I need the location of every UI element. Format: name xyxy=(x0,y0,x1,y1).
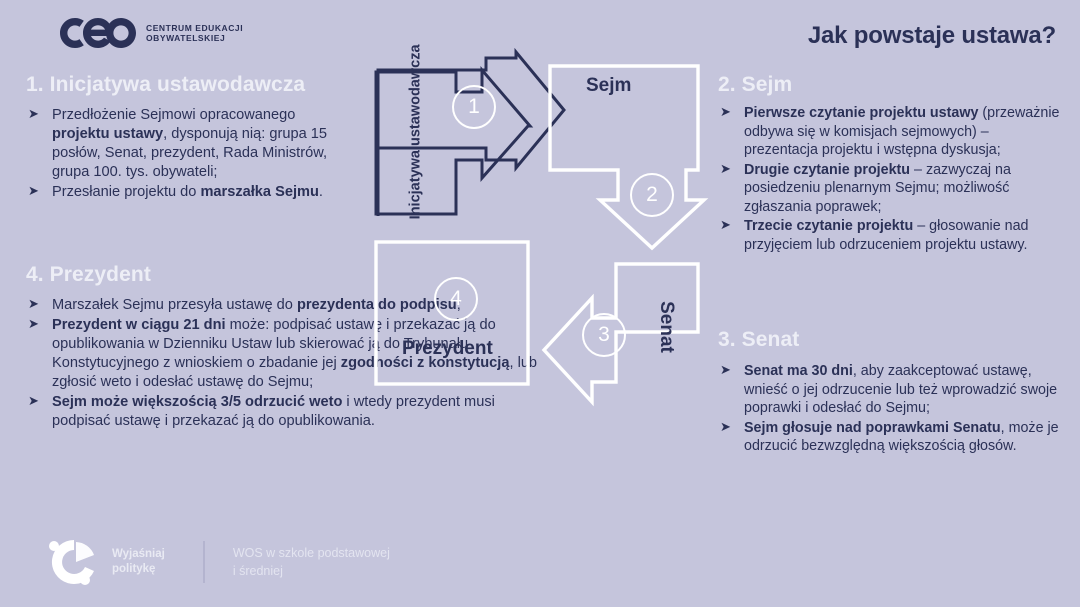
ceo-logo-subtitle-line1: CENTRUM EDUKACJI xyxy=(146,23,243,33)
list-item-text: Przedłożenie Sejmowi opracowanego projek… xyxy=(52,106,356,182)
step-badge-1: 1 xyxy=(452,85,496,129)
legislative-process-diagram: Inicjatywa ustawodawcza Sejm Senat Prezy… xyxy=(368,48,712,408)
diagram-label-sejm: Sejm xyxy=(586,75,631,97)
diagram-label-prezydent: Prezydent xyxy=(402,338,493,360)
bullet-list-sejm: ➤ Pierwsze czytanie projektu ustawy (prz… xyxy=(718,104,1062,256)
list-item: ➤ Przedłożenie Sejmowi opracowanego proj… xyxy=(26,106,356,182)
list-item-text: Senat ma 30 dni, aby zaakceptować ustawę… xyxy=(744,362,1062,418)
ceo-logo: CENTRUM EDUKACJI OBYWATELSKIEJ xyxy=(58,16,243,50)
bullet-arrow-icon: ➤ xyxy=(720,161,731,178)
bullet-arrow-icon: ➤ xyxy=(720,362,731,379)
footer-divider xyxy=(203,541,205,583)
list-item-text: Pierwsze czytanie projektu ustawy (przew… xyxy=(744,104,1062,160)
list-item: ➤ Senat ma 30 dni, aby zaakceptować usta… xyxy=(718,362,1062,418)
footer-claim-line2: politykę xyxy=(112,562,165,577)
bullet-list-senat: ➤ Senat ma 30 dni, aby zaakceptować usta… xyxy=(718,362,1062,457)
arrow-step1-shape xyxy=(378,52,564,216)
bullet-arrow-icon: ➤ xyxy=(28,106,39,123)
step-badge-2: 2 xyxy=(630,173,674,217)
bullet-arrow-icon: ➤ xyxy=(28,296,39,313)
footer-claim-line1: Wyjaśniaj xyxy=(112,547,165,562)
footer-course-line1: WOS w szkole podstawowej xyxy=(233,544,390,562)
bullet-arrow-icon: ➤ xyxy=(28,316,39,333)
list-item-text: Drugie czytanie projektu – zazwyczaj na … xyxy=(744,161,1062,217)
list-item-text: Trzecie czytanie projektu – głosowanie n… xyxy=(744,217,1062,254)
slide-title: Jak powstaje ustawa? xyxy=(808,22,1056,50)
arrow-step1-outline xyxy=(376,70,530,214)
section-heading-senat: 3. Senat xyxy=(718,328,799,352)
list-item-text: Sejm głosuje nad poprawkami Senatu, może… xyxy=(744,419,1062,456)
list-item: ➤ Pierwsze czytanie projektu ustawy (prz… xyxy=(718,104,1062,160)
slide-canvas: CENTRUM EDUKACJI OBYWATELSKIEJ Jak powst… xyxy=(0,0,1080,607)
diagram-label-inicjatywa: Inicjatywa ustawodawcza xyxy=(408,79,425,219)
list-item: ➤ Drugie czytanie projektu – zazwyczaj n… xyxy=(718,161,1062,217)
slide-footer: Wyjaśniaj politykę WOS w szkole podstawo… xyxy=(44,533,390,591)
list-item: ➤ Przesłanie projektu do marszałka Sejmu… xyxy=(26,183,356,202)
bullet-arrow-icon: ➤ xyxy=(28,393,39,410)
ceo-logo-subtitle-line2: OBYWATELSKIEJ xyxy=(146,33,243,43)
diagram-label-senat: Senat xyxy=(655,281,677,373)
footer-claim: Wyjaśniaj politykę xyxy=(112,547,165,576)
list-item: ➤ Trzecie czytanie projektu – głosowanie… xyxy=(718,217,1062,254)
step-badge-3: 3 xyxy=(582,313,626,357)
bullet-arrow-icon: ➤ xyxy=(720,419,731,436)
bullet-arrow-icon: ➤ xyxy=(720,104,731,121)
section-heading-sejm: 2. Sejm xyxy=(718,73,792,97)
list-item-text: Przesłanie projektu do marszałka Sejmu. xyxy=(52,183,356,202)
list-item: ➤ Sejm głosuje nad poprawkami Senatu, mo… xyxy=(718,419,1062,456)
section-heading-prezydent: 4. Prezydent xyxy=(26,263,151,287)
bullet-list-initiative: ➤ Przedłożenie Sejmowi opracowanego proj… xyxy=(26,106,356,203)
wyjasniaj-polityke-logo-icon xyxy=(44,536,102,588)
ceo-logo-subtitle: CENTRUM EDUKACJI OBYWATELSKIEJ xyxy=(146,23,243,44)
section-heading-initiative: 1. Inicjatywa ustawodawcza xyxy=(26,73,305,97)
footer-course: WOS w szkole podstawowej i średniej xyxy=(233,544,390,580)
ceo-logo-mark xyxy=(58,16,136,50)
bullet-arrow-icon: ➤ xyxy=(720,217,731,234)
bullet-arrow-icon: ➤ xyxy=(28,183,39,200)
step-badge-4: 4 xyxy=(434,277,478,321)
footer-course-line2: i średniej xyxy=(233,562,390,580)
